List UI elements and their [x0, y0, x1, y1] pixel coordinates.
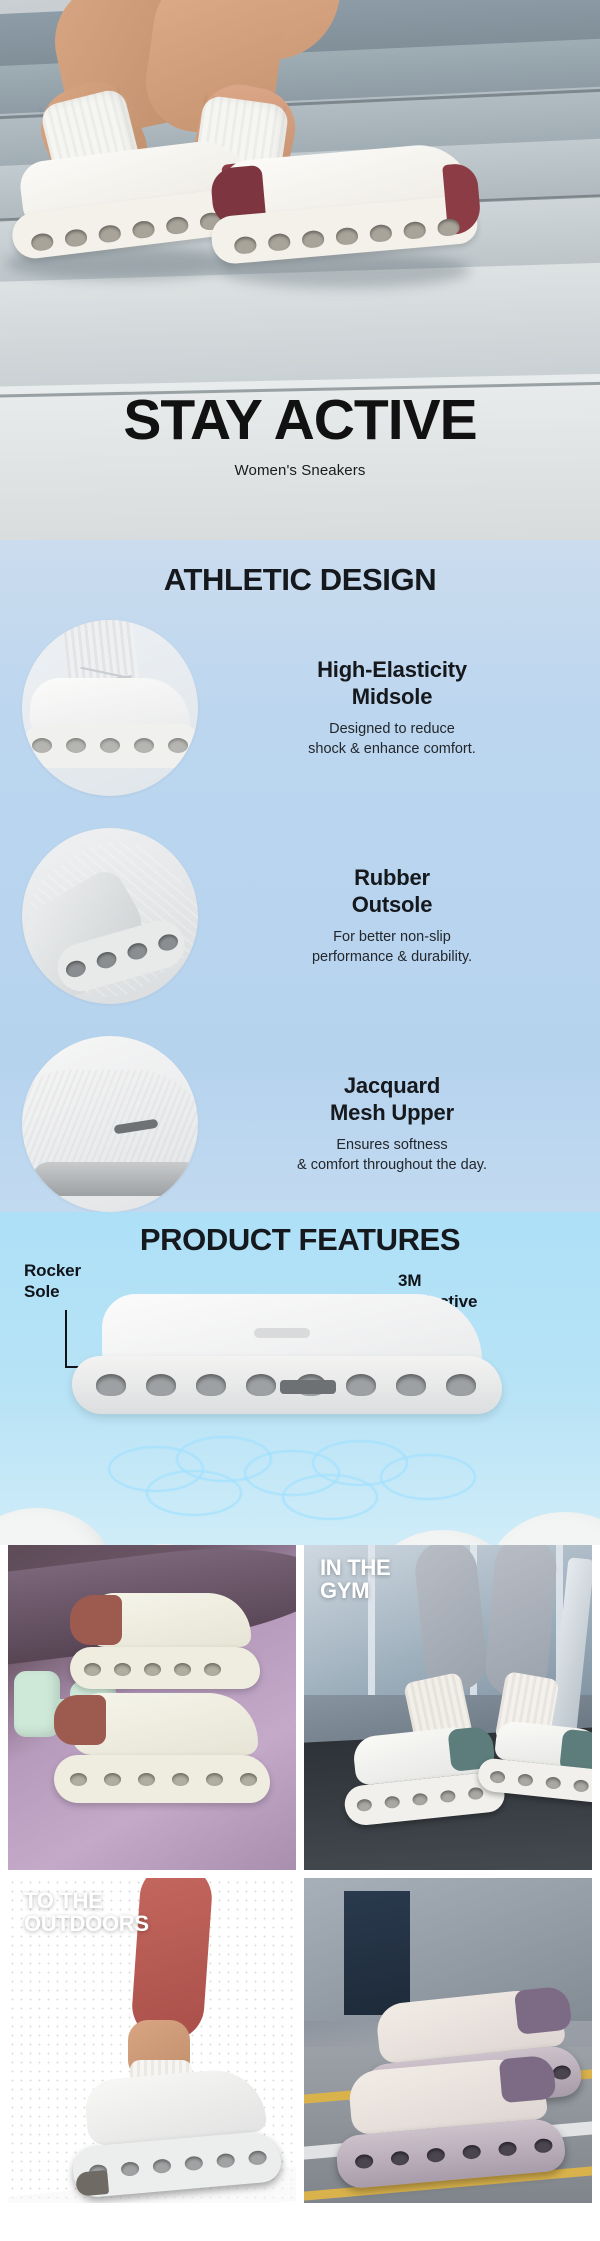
callout-line2: Sole [24, 1282, 60, 1301]
lifestyle-photo-grid: IN THE GYM TO THE OUTDOORS [0, 1545, 600, 2211]
feature-desc-line2: shock & enhance comfort. [308, 741, 476, 757]
athletic-design-section: ATHLETIC DESIGN High-Elasticity Midsole … [0, 540, 600, 1545]
product-hero-shoe-photo [72, 1294, 502, 1434]
feature-desc-line1: For better non-slip [333, 929, 451, 945]
hero-section: STAY ACTIVE Women's Sneakers [0, 0, 600, 540]
feature-row-outsole: Rubber Outsole For better non-slip perfo… [0, 828, 600, 1004]
purple-pair-on-road-photo [304, 1878, 592, 2203]
photo-caption-in-the-gym: IN THE GYM [320, 1557, 390, 1603]
caption-line1: IN THE [320, 1555, 390, 1580]
feature-heading-line1: High-Elasticity [317, 657, 467, 682]
feature-desc-line1: Designed to reduce [329, 721, 455, 737]
feature-desc-line1: Ensures softness [336, 1137, 447, 1153]
feature-heading-line1: Rubber [354, 865, 430, 890]
shoes-on-yoga-mat-photo [8, 1545, 296, 1870]
feature-row-midsole: High-Elasticity Midsole Designed to redu… [0, 620, 600, 796]
rubber-outsole-tread-photo [22, 828, 198, 1004]
feature-heading-line2: Outsole [352, 892, 433, 917]
caption-line2: OUTDOORS [24, 1911, 149, 1936]
section-title-athletic-design: ATHLETIC DESIGN [0, 540, 600, 598]
page-title: STAY ACTIVE [0, 392, 600, 449]
feature-desc-line2: & comfort throughout the day. [297, 1157, 487, 1173]
feature-desc-line2: performance & durability. [312, 949, 472, 965]
jacquard-mesh-upper-photo [22, 1036, 198, 1212]
feature-heading-line2: Mesh Upper [330, 1100, 454, 1125]
outdoor-asphalt-photo: TO THE OUTDOORS [8, 1878, 296, 2203]
feature-heading-line1: Jacquard [344, 1073, 440, 1098]
hero-subtitle: Women's Sneakers [0, 462, 600, 479]
section-title-product-features: PRODUCT FEATURES [0, 1212, 600, 1258]
feature-heading-line2: Midsole [352, 684, 433, 709]
photo-caption-to-the-outdoors: TO THE OUTDOORS [24, 1890, 149, 1936]
treadmill-walking-photo: IN THE GYM [304, 1545, 592, 1870]
decorative-glow-rings [0, 1440, 600, 1540]
midsole-closeup-photo [22, 620, 198, 796]
feature-row-mesh-upper: Jacquard Mesh Upper Ensures softness & c… [0, 1036, 600, 1212]
callout-line1: Rocker [24, 1261, 81, 1280]
hero-right-shoe [203, 140, 483, 287]
hero-text-block: STAY ACTIVE Women's Sneakers [0, 392, 600, 479]
caption-line2: GYM [320, 1578, 369, 1603]
caption-line1: TO THE [24, 1888, 102, 1913]
callout-line1: 3M [398, 1271, 421, 1290]
